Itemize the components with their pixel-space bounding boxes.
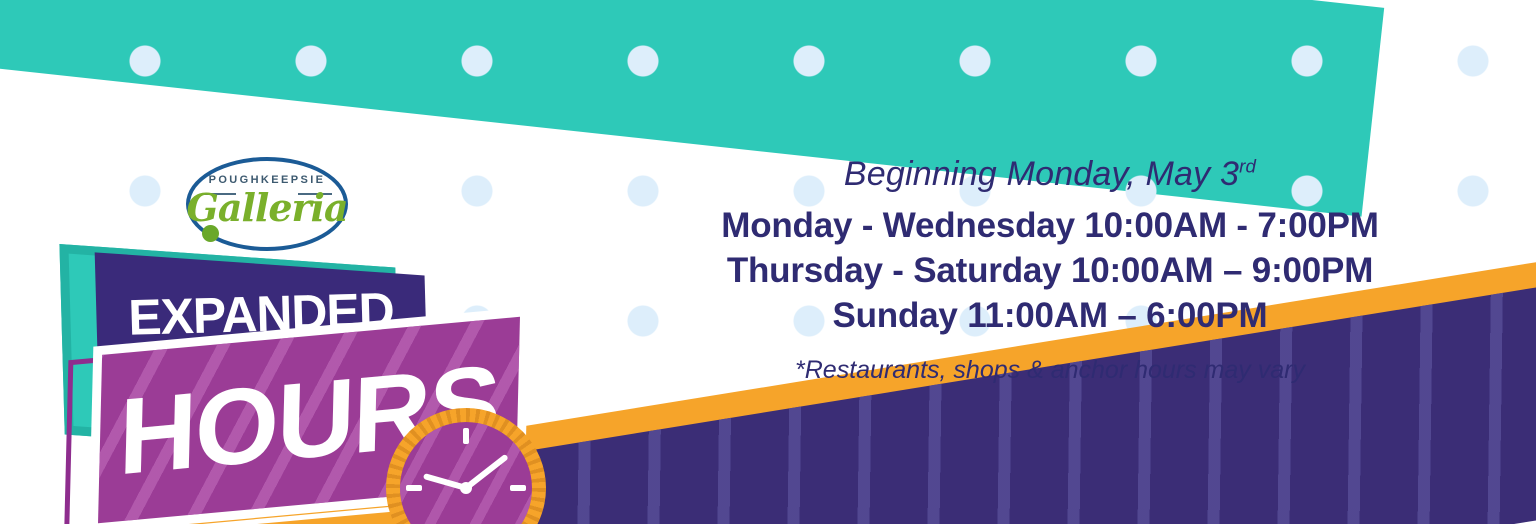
clock-icon [386,408,546,524]
announcement-lead: Beginning Monday, May 3rd [690,155,1410,194]
clock-marker-3 [510,485,526,491]
hours-row-monday-wednesday: Monday - Wednesday 10:00AM - 7:00PM [690,204,1410,249]
hours-row-sunday: Sunday 11:00AM – 6:00PM [690,294,1410,339]
announcement-lead-ordinal: rd [1239,156,1256,177]
announcement-lead-text: Beginning Monday, May 3 [844,155,1239,193]
expanded-hours-badge: EXPANDED HOURS [0,200,560,524]
expanded-hours-banner: POUGHKEEPSIE Galleria EXPANDED HOURS [0,0,1536,524]
clock-center-pin [460,482,472,494]
clock-marker-12 [463,428,469,444]
announcement-copy: Beginning Monday, May 3rd Monday - Wedne… [690,155,1410,385]
hours-row-thursday-saturday: Thursday - Saturday 10:00AM – 9:00PM [690,249,1410,294]
clock-marker-9 [406,485,422,491]
hours-disclaimer: *Restaurants, shops & anchor hours may v… [690,356,1410,385]
